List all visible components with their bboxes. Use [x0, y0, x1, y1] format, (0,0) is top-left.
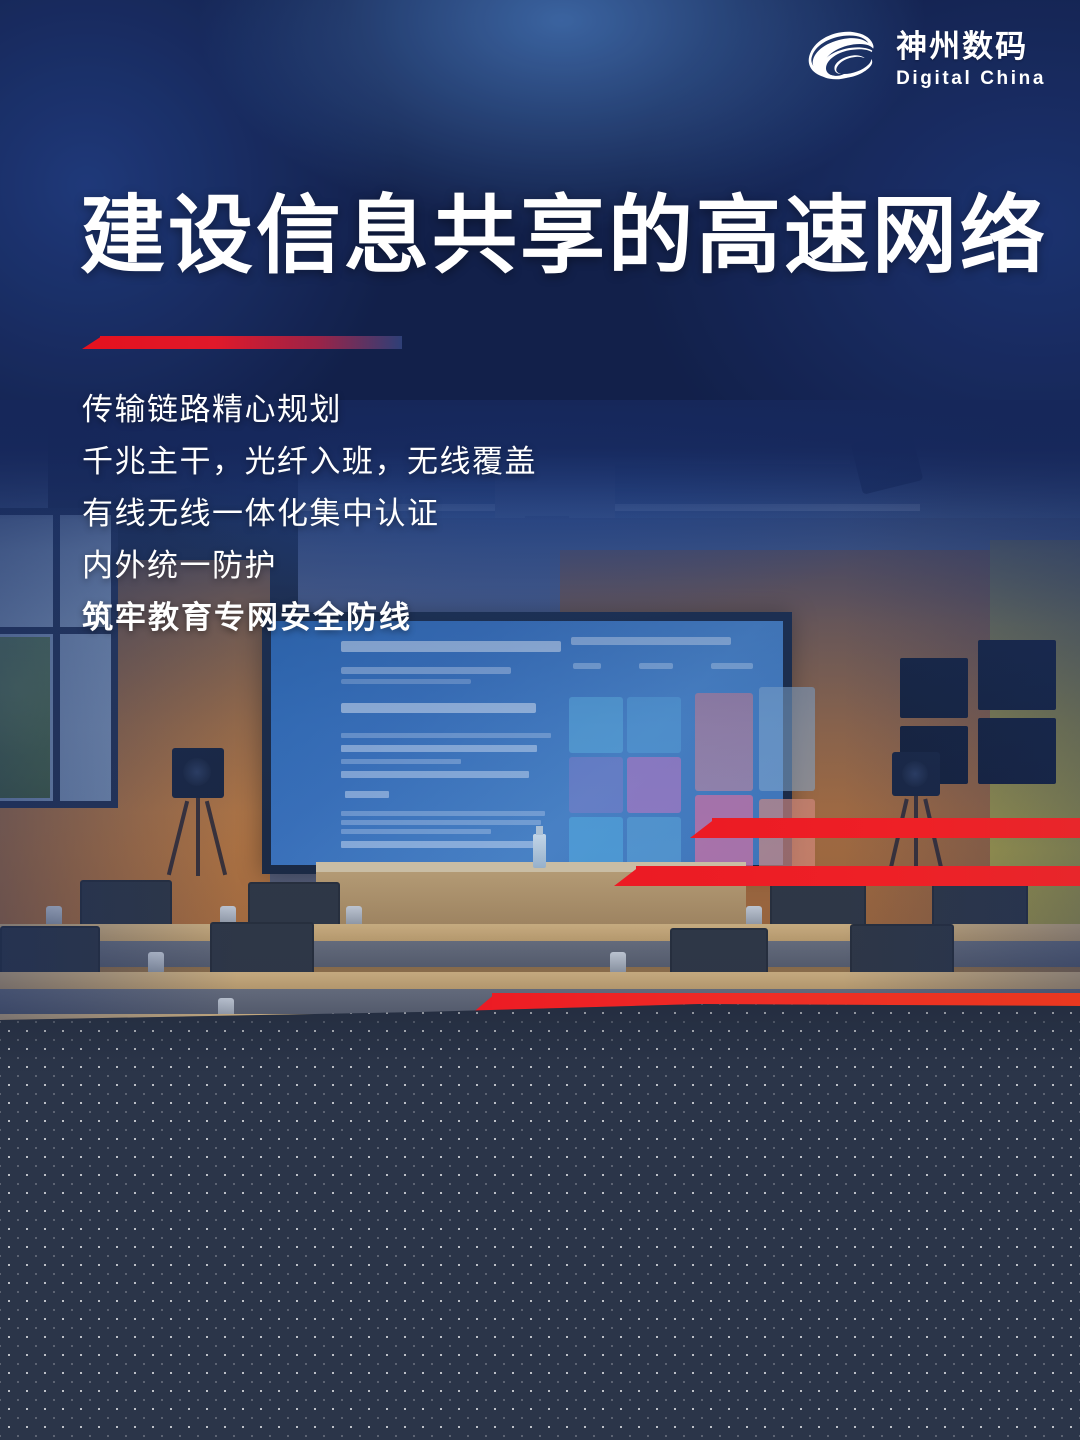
accent-bar-tip: [82, 336, 102, 349]
brand-logo: 神州数码 Digital China: [806, 28, 1046, 90]
body-line-emphasis: 筑牢教育专网安全防线: [82, 592, 537, 644]
body-line: 有线无线一体化集中认证: [82, 488, 537, 540]
body-line: 内外统一防护: [82, 540, 537, 592]
digital-china-swirl-icon: [806, 28, 882, 90]
red-stripe-body: [636, 866, 1080, 886]
body-line: 千兆主干，光纤入班，无线覆盖: [82, 436, 537, 488]
red-stripe-middle: [614, 866, 1080, 886]
body-copy: 传输链路精心规划 千兆主干，光纤入班，无线覆盖 有线无线一体化集中认证 内外统一…: [82, 384, 537, 644]
brand-name-en: Digital China: [896, 69, 1046, 88]
accent-bar-body: [100, 336, 402, 349]
poster-root: 神州数码 Digital China 建设信息共享的高速网络 传输链路精心规划 …: [0, 0, 1080, 1440]
body-line: 传输链路精心规划: [82, 384, 537, 436]
bottom-dot-panel: [0, 1004, 1080, 1440]
red-accent-bar: [82, 336, 402, 349]
page-title: 建设信息共享的高速网络: [80, 192, 1048, 281]
red-stripe-body: [712, 818, 1080, 838]
brand-logo-text: 神州数码 Digital China: [896, 31, 1046, 88]
brand-name-cn: 神州数码: [896, 31, 1028, 62]
red-stripe-top: [690, 818, 1080, 838]
